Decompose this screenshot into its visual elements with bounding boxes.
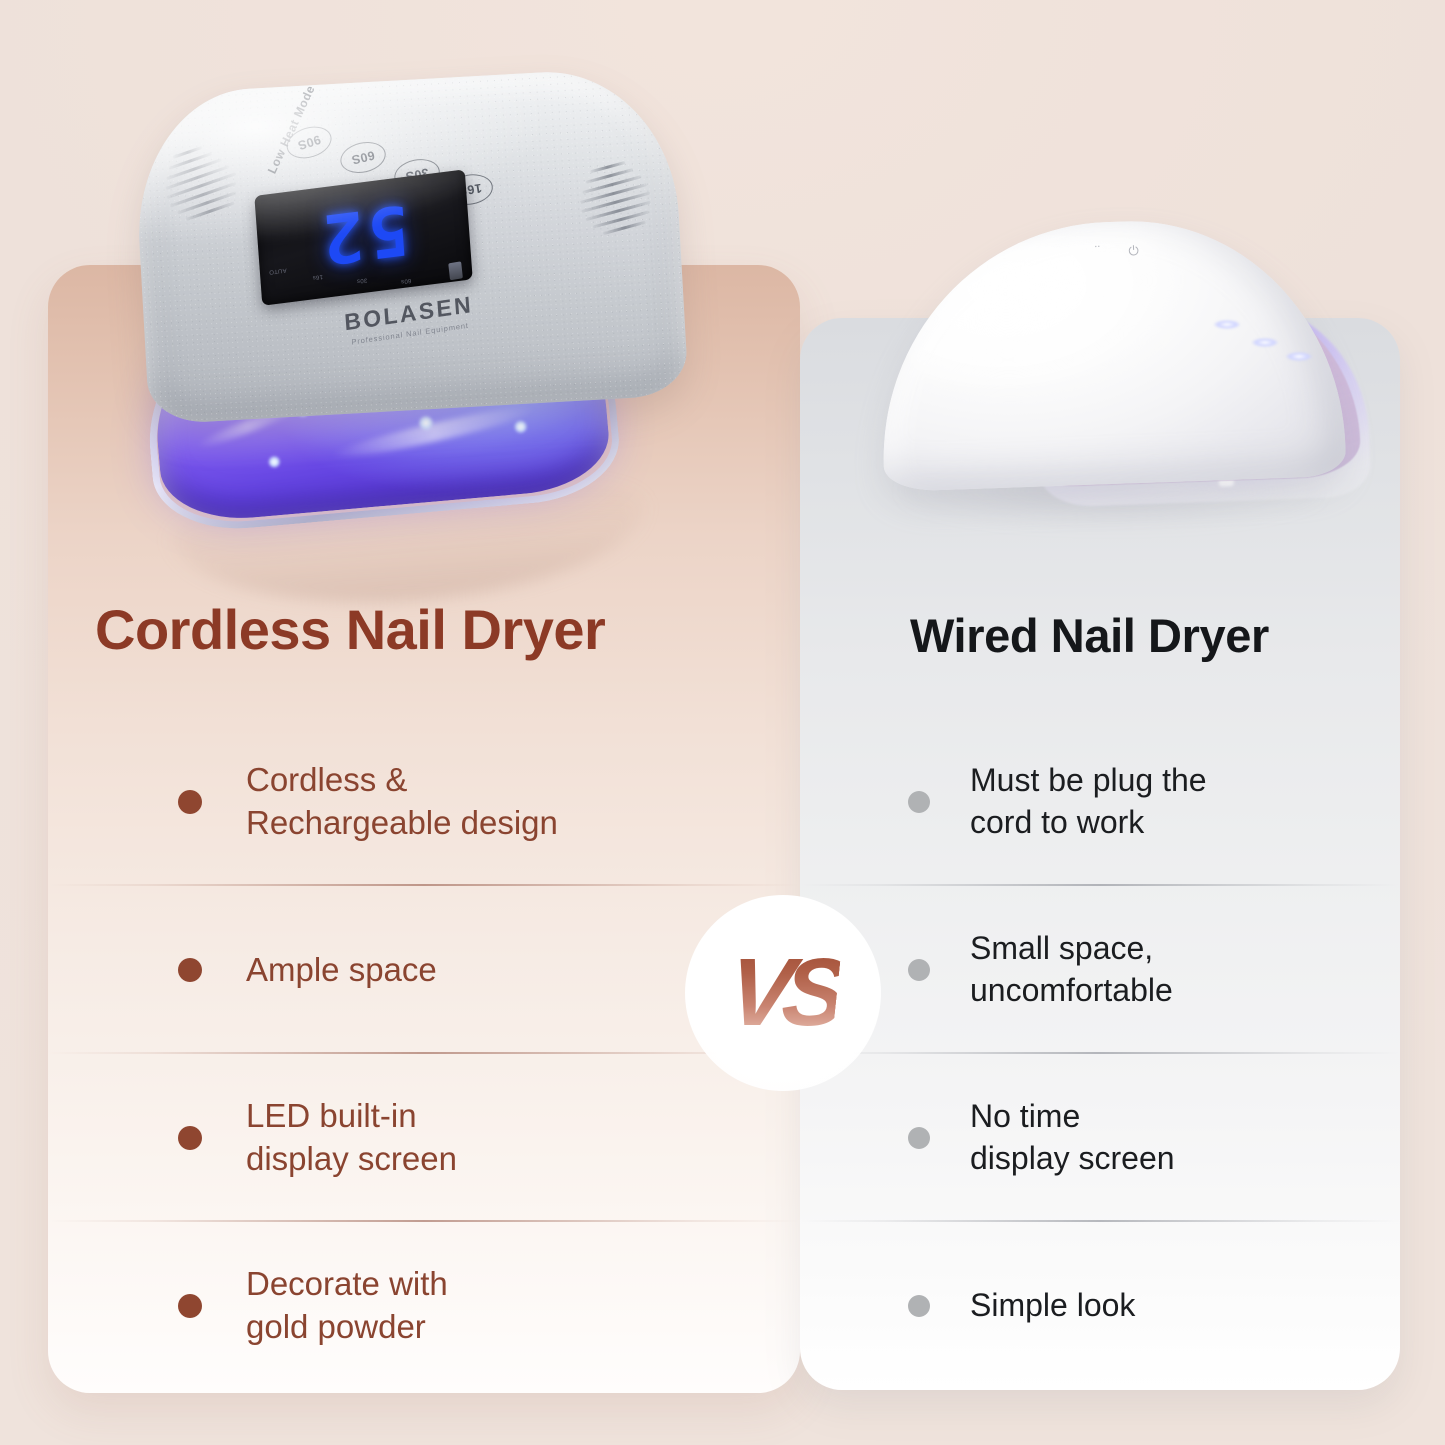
display-mini-label-30s: 30s	[356, 276, 367, 283]
cordless-feature-list: Cordless & Rechargeable design Ample spa…	[48, 718, 800, 1390]
bullet-icon	[908, 959, 930, 981]
feature-row: Must be plug the cord to work	[800, 718, 1400, 886]
feature-row: LED built-in display screen	[48, 1054, 800, 1222]
bullet-icon	[178, 1126, 202, 1150]
display-mini-label-auto: AUTO	[269, 266, 287, 274]
bullet-icon	[178, 1294, 202, 1318]
feature-row: Cordless & Rechargeable design	[48, 718, 800, 886]
feature-row: No time display screen	[800, 1054, 1400, 1222]
vs-badge: VS	[685, 895, 881, 1091]
low-heat-mode-label: Low Heat Mode	[265, 83, 318, 176]
display-mini-label-16s: 16s	[312, 273, 323, 280]
feature-row: Simple look	[800, 1222, 1400, 1390]
bullet-icon	[908, 1127, 930, 1149]
feature-text: Cordless & Rechargeable design	[246, 759, 558, 845]
wired-control-dot-icon[interactable]: ∙∙	[1094, 240, 1101, 252]
vs-label: VS	[723, 938, 843, 1048]
led-timer-value: 52	[315, 188, 412, 278]
display-mini-label-60s: 60s	[401, 277, 412, 284]
wired-nail-dryer-image: ∙∙ ⏻	[862, 206, 1382, 536]
bullet-icon	[178, 790, 202, 814]
cordless-nail-dryer-image: Low Heat Mode 90S 60S 30S 16S 52 AUTO 16…	[118, 58, 698, 528]
wired-power-icon[interactable]: ⏻	[1128, 243, 1139, 259]
cordless-device-shell: Low Heat Mode 90S 60S 30S 16S 52 AUTO 16…	[131, 65, 689, 425]
feature-text: Ample space	[246, 949, 437, 992]
timer-button-90s[interactable]: 90S	[283, 121, 336, 163]
bullet-icon	[908, 1295, 930, 1317]
cordless-panel-title: Cordless Nail Dryer	[95, 597, 605, 662]
feature-text: LED built-in display screen	[246, 1095, 457, 1181]
timer-button-60s[interactable]: 60S	[337, 138, 389, 178]
feature-text: Must be plug the cord to work	[970, 760, 1207, 843]
battery-indicator-icon	[448, 261, 463, 280]
bullet-icon	[908, 791, 930, 813]
wired-panel-title: Wired Nail Dryer	[910, 608, 1269, 663]
feature-text: Simple look	[970, 1285, 1135, 1327]
wired-device-dome: ∙∙ ⏻	[876, 214, 1347, 492]
left-vent-grille	[155, 137, 252, 231]
timer-button-16s[interactable]: 16S	[445, 171, 495, 208]
infographic-stage: Low Heat Mode 90S 60S 30S 16S 52 AUTO 16…	[0, 0, 1445, 1445]
feature-text: Small space, uncomfortable	[970, 928, 1173, 1011]
feature-text: Decorate with gold powder	[246, 1263, 448, 1349]
feature-text: No time display screen	[970, 1096, 1175, 1179]
wired-feature-list: Must be plug the cord to work Small spac…	[800, 718, 1400, 1390]
feature-row: Decorate with gold powder	[48, 1222, 800, 1390]
bullet-icon	[178, 958, 202, 982]
timer-button-30s[interactable]: 30S	[392, 155, 443, 193]
feature-row: Small space, uncomfortable	[800, 886, 1400, 1054]
